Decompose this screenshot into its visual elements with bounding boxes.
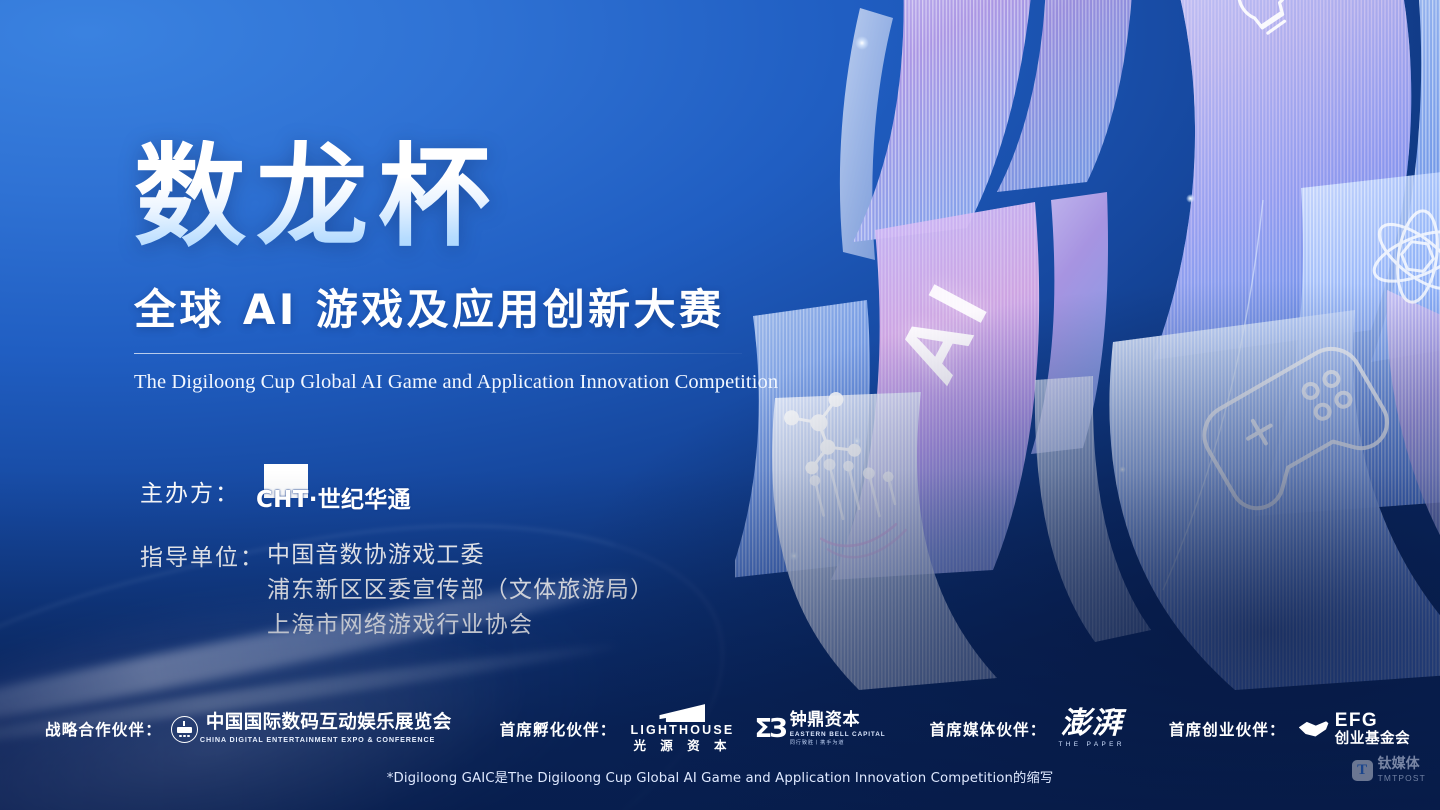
eastern-bell-name-zh: 钟鼎资本 (790, 712, 886, 730)
chinajoy-name-zh: 中国国际数码互动娱乐展览会 (206, 714, 452, 733)
footnote-text: *Digiloong GAIC是The Digiloong Cup Global… (0, 767, 1440, 786)
efg-logo: EFG 创业基金会 (1299, 711, 1411, 748)
media-partner-label: 首席媒体伙伴： (930, 718, 1047, 740)
watermark-name-en: TMTPOST (1378, 773, 1426, 783)
eastern-bell-logo: ΣЗ 钟鼎资本 EASTERN BELL CAPITAL 同行致胜丨携手为道 (754, 712, 885, 747)
efg-bird-icon (1299, 719, 1330, 740)
decorative-ribbon-artwork: AI (735, 0, 1440, 720)
tmtpost-icon-letter: T (1357, 763, 1367, 778)
tmtpost-icon: T (1352, 760, 1373, 781)
the-paper-logo: 澎湃 THE PAPER (1058, 710, 1124, 749)
watermark: T 钛媒体 TMTPOST (1352, 757, 1426, 783)
efg-name-en: EFG (1335, 711, 1411, 730)
host-row: 主办方： CHT·世纪华通 (140, 466, 411, 516)
guidance-item: 浦东新区区委宣传部（文体旅游局） (267, 573, 654, 608)
strategic-partner-label: 战略合作伙伴： (45, 718, 162, 740)
the-paper-name-zh: 澎湃 (1058, 710, 1124, 739)
lighthouse-mark-icon (659, 704, 705, 722)
partner-group-media: 首席媒体伙伴： 澎湃 THE PAPER (930, 710, 1125, 749)
title-divider (134, 353, 742, 354)
chinajoy-name-en: CHINA DIGITAL ENTERTAINMENT EXPO & CONFE… (200, 735, 452, 744)
cht-logo: CHT·世纪华通 (256, 466, 411, 516)
chinajoy-badge-icon (171, 716, 198, 743)
guidance-list: 中国音数协游戏工委 浦东新区区委宣传部（文体旅游局） 上海市网络游戏行业协会 (267, 538, 654, 643)
eastern-bell-mark-icon: ΣЗ (754, 716, 784, 742)
partner-group-venture: 首席创业伙伴： EFG 创业基金会 (1169, 711, 1410, 748)
headline-block: 数龙杯 全球 AI 游戏及应用创新大赛 The Digiloong Cup Gl… (134, 140, 834, 394)
lighthouse-logo: LIGHTHOUSE 光 源 资 本 (631, 704, 735, 754)
partner-group-incubation: 首席孵化伙伴： LIGHTHOUSE 光 源 资 本 ΣЗ 钟鼎资本 EASTE… (500, 704, 886, 754)
venture-partner-label: 首席创业伙伴： (1169, 718, 1286, 740)
guidance-label: 指导单位： (140, 538, 265, 643)
lighthouse-name-en: LIGHTHOUSE (631, 724, 735, 738)
guidance-item: 中国音数协游戏工委 (267, 538, 654, 573)
guidance-item: 上海市网络游戏行业协会 (267, 608, 654, 643)
lighthouse-name-zh: 光 源 资 本 (631, 738, 735, 754)
the-paper-name-en: THE PAPER (1058, 741, 1124, 748)
poster-canvas: AI 数龙杯 全球 AI 游戏及应用创新大赛 The Digiloong Cup… (0, 0, 1440, 810)
partner-group-strategic: 战略合作伙伴： 中国国际数码互动娱乐展览会 CHINA DIGITAL ENTE… (45, 714, 452, 745)
page-title: 数龙杯 (134, 140, 834, 254)
english-title: The Digiloong Cup Global AI Game and App… (134, 371, 834, 394)
efg-name-zh: 创业基金会 (1335, 732, 1411, 748)
eastern-bell-name-en: EASTERN BELL CAPITAL (790, 731, 886, 738)
watermark-name-zh: 钛媒体 (1378, 757, 1426, 771)
page-subtitle: 全球 AI 游戏及应用创新大赛 (134, 276, 834, 337)
guidance-row: 指导单位： 中国音数协游戏工委 浦东新区区委宣传部（文体旅游局） 上海市网络游戏… (140, 538, 654, 643)
host-label: 主办方： (140, 474, 240, 508)
cht-logo-text: CHT·世纪华通 (256, 489, 411, 516)
eastern-bell-tagline: 同行致胜丨携手为道 (790, 739, 886, 746)
partner-bar: 战略合作伙伴： 中国国际数码互动娱乐展览会 CHINA DIGITAL ENTE… (0, 703, 1440, 755)
arc-ribbon-outer (735, 0, 1440, 720)
chinajoy-logo: 中国国际数码互动娱乐展览会 CHINA DIGITAL ENTERTAINMEN… (171, 714, 452, 745)
incubation-partner-label: 首席孵化伙伴： (500, 718, 617, 740)
